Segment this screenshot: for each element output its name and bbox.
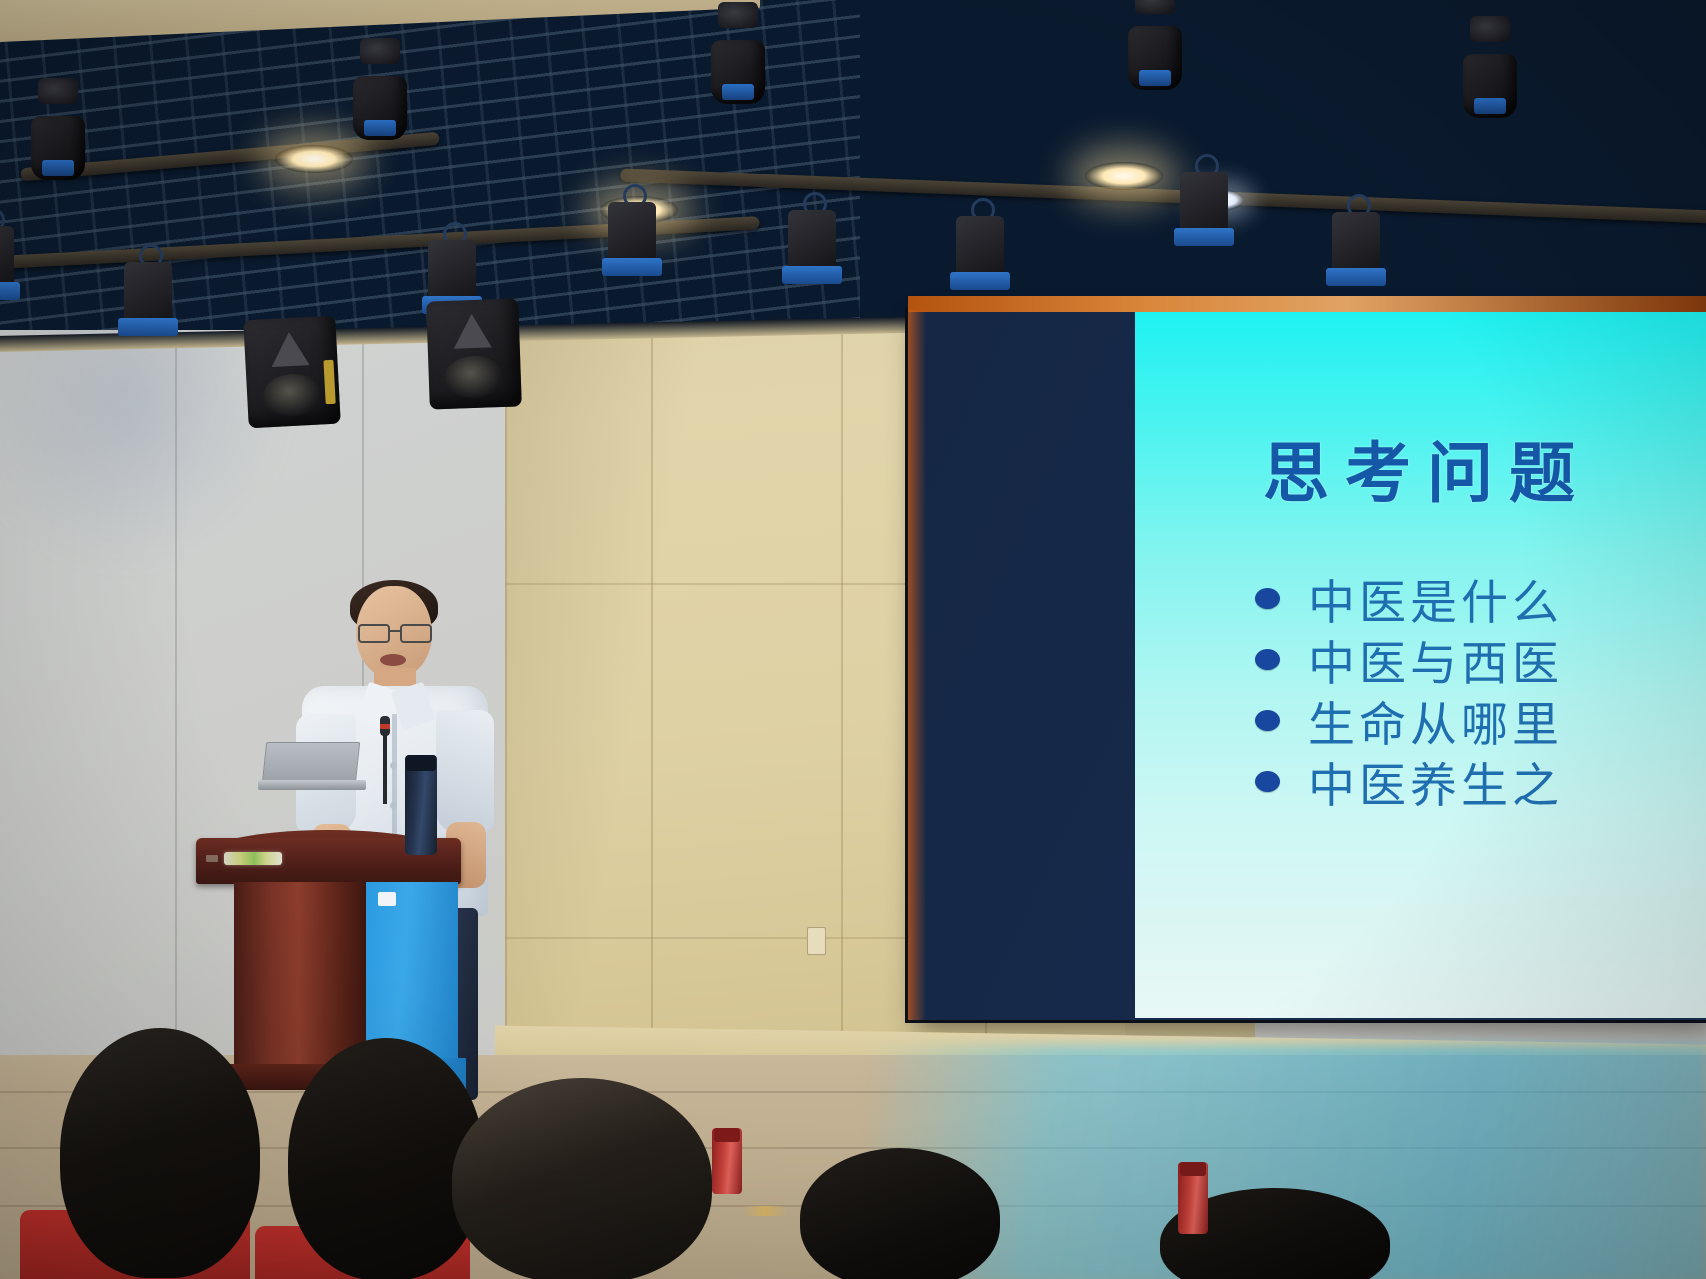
- shirt-button: [390, 802, 397, 809]
- light-blue-yoke: [1174, 228, 1234, 246]
- bullet-dot-icon: [1255, 588, 1280, 609]
- shirt-sleeve-right: [436, 710, 494, 832]
- gooseneck-microphone: [381, 716, 389, 802]
- stage-speaker-box: [426, 298, 522, 409]
- ceiling-lighting-grid: [0, 0, 1706, 330]
- thermos-bottle: [405, 755, 437, 855]
- light-lens: [38, 78, 78, 104]
- warm-downlight-bulb: [1085, 162, 1163, 190]
- audience-head: [452, 1078, 712, 1279]
- slide-bullet-list: 中医是什么 中医与西医 生命从哪里 中医养生之: [1255, 568, 1706, 812]
- presentation-slide: 思考问题 中医是什么 中医与西医 生命从哪里 中医养生之: [1135, 312, 1706, 1018]
- podium-logo-emblem: [224, 852, 282, 865]
- light-blue-yoke: [1474, 98, 1506, 114]
- slide-bullet-text: 中医养生之: [1308, 747, 1563, 816]
- audience-head: [800, 1148, 1000, 1279]
- light-lens: [360, 38, 400, 64]
- light-blue-yoke: [1326, 268, 1386, 286]
- lectern-label-tag: [378, 892, 396, 906]
- light-blue-yoke: [42, 160, 74, 176]
- light-blue-yoke: [782, 266, 842, 284]
- slide-bullet-text: 中医与西医: [1308, 625, 1563, 694]
- bottle-cap: [714, 1128, 740, 1142]
- laptop-base: [258, 780, 366, 790]
- led-wall-edge-glow: [908, 310, 926, 1020]
- laptop: [258, 742, 363, 790]
- lectern-side-mark: [206, 855, 218, 862]
- lecture-hall-scene: 思考问题 中医是什么 中医与西医 生命从哪里 中医养生之: [0, 0, 1706, 1279]
- light-blue-yoke: [602, 258, 662, 276]
- stage-speaker-box: [243, 316, 341, 429]
- list-item: 中医与西医: [1255, 629, 1706, 690]
- light-blue-yoke: [364, 120, 396, 136]
- light-lens: [1470, 16, 1510, 42]
- thermos-cap: [406, 755, 436, 771]
- speaker-horn-icon: [270, 331, 310, 367]
- slide-title: 思考问题: [1263, 420, 1591, 516]
- light-lens: [718, 2, 758, 28]
- list-item: 生命从哪里: [1255, 690, 1706, 751]
- laptop-screen: [262, 742, 360, 784]
- speaker-horn-icon: [453, 313, 492, 348]
- light-blue-yoke: [118, 318, 178, 336]
- bottle-cap: [1180, 1162, 1206, 1176]
- bullet-dot-icon: [1255, 710, 1280, 731]
- wall-seam: [651, 215, 653, 1120]
- presenter-mouth: [380, 654, 406, 666]
- light-blue-yoke: [1139, 70, 1171, 86]
- warm-downlight-bulb: [275, 145, 353, 173]
- light-blue-yoke: [950, 272, 1010, 290]
- slide-bullet-text: 中医是什么: [1308, 564, 1563, 633]
- shirt-button: [390, 762, 397, 769]
- wall-seam: [841, 215, 843, 1120]
- light-lens: [1135, 0, 1175, 14]
- led-wall-top-trim: [908, 296, 1706, 312]
- gold-glint: [742, 1206, 788, 1216]
- list-item: 中医是什么: [1255, 568, 1706, 629]
- speaker-badge: [323, 360, 335, 404]
- list-item: 中医养生之: [1255, 751, 1706, 812]
- speaker-cone-icon: [444, 355, 503, 399]
- light-blue-yoke: [0, 282, 20, 300]
- red-thermos-bottle: [1178, 1162, 1208, 1234]
- bullet-dot-icon: [1255, 649, 1280, 670]
- microphone-stem: [383, 732, 387, 804]
- wall-outlet: [807, 927, 826, 955]
- speaker-cone-icon: [262, 373, 322, 418]
- audience-head: [60, 1028, 260, 1278]
- bullet-dot-icon: [1255, 771, 1280, 792]
- red-thermos-bottle: [712, 1128, 742, 1194]
- glasses-icon: [358, 624, 432, 639]
- microphone-red-band: [380, 724, 390, 729]
- slide-bullet-text: 生命从哪里: [1308, 686, 1563, 755]
- light-blue-yoke: [722, 84, 754, 100]
